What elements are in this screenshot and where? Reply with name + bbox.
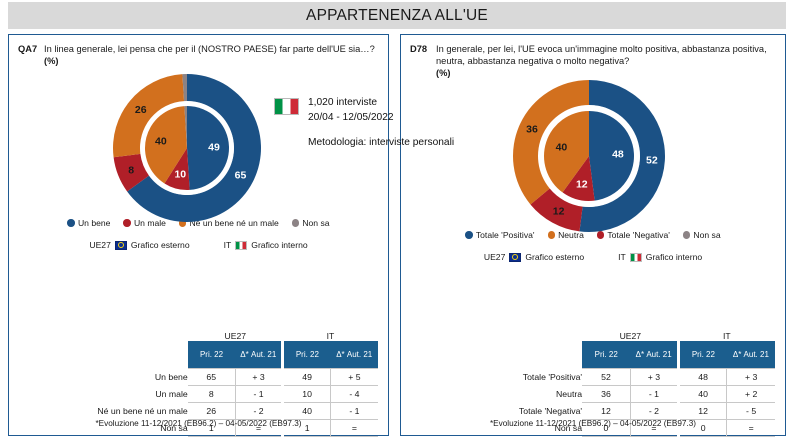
legend-item: Un bene: [67, 218, 110, 228]
table-cell-it-delta: - 5: [727, 402, 775, 419]
italy-flag-icon: [235, 241, 247, 250]
table-row-label: Totale 'Negativa': [411, 402, 582, 419]
pie-slice-label: 40: [155, 136, 167, 148]
legend-label: Un bene: [78, 218, 111, 228]
table-group-it: IT: [283, 328, 378, 341]
table-cell-it-val: 10: [283, 385, 331, 402]
table-column-header: Pri. 22: [188, 341, 236, 368]
page-title: APPARTENENZA ALL'UE: [306, 7, 488, 25]
table-column-header-row: Pri. 22Δ* Aut. 21Pri. 22Δ* Aut. 21: [19, 341, 378, 368]
table-cell-it-delta: - 1: [330, 402, 378, 419]
table-cell-it-val: 48: [679, 368, 727, 385]
table-cell-ue-val: 52: [582, 368, 630, 385]
source-it-chart-label: Grafico interno: [646, 252, 702, 262]
pie-slice-label: 52: [646, 155, 658, 167]
table-cell-ue-val: 8: [188, 385, 236, 402]
footnote-qa7: *Evoluzione 11-12/2021 (EB96.2) – 04-05/…: [9, 419, 388, 428]
italy-flag-icon: [630, 253, 642, 262]
legend-color-swatch: [683, 231, 691, 239]
source-it-label: IT: [618, 252, 626, 262]
table-row: Un male8- 110- 4: [19, 385, 378, 402]
question-code-qa7: QA7: [18, 43, 44, 66]
question-text-d78: In generale, per lei, l'UE evoca un'imma…: [436, 43, 776, 67]
table-column-header-row: Pri. 22Δ* Aut. 21Pri. 22Δ* Aut. 21: [411, 341, 775, 368]
pie-slice-label: 65: [235, 170, 247, 182]
table-cell-it-val: 49: [283, 368, 331, 385]
table-cell-it-val: 12: [679, 402, 727, 419]
pie-slice-label: 12: [576, 179, 588, 191]
table-cell-ue-val: 12: [582, 402, 630, 419]
table-cell-it-delta: + 2: [727, 385, 775, 402]
legend-color-swatch: [67, 219, 75, 227]
methodology-text: Metodologia: interviste personali: [308, 137, 454, 148]
table-cell-it-delta: - 4: [330, 385, 378, 402]
slide-root: APPARTENENZA ALL'UE QA7 In linea general…: [0, 0, 794, 440]
legend-item: Non sa: [292, 218, 330, 228]
nested-pie-chart-d78: 521236481240: [513, 80, 665, 232]
pie-slice-label: 48: [612, 149, 624, 161]
source-it-label: IT: [224, 240, 232, 250]
survey-info-block: 1,020 interviste 20/04 - 12/05/2022 Meto…: [274, 96, 454, 148]
table-row: Né un bene né un male26- 240- 1: [19, 402, 378, 419]
table-cell-ue-val: 26: [188, 402, 236, 419]
source-key-it-qa7: IT Grafico interno: [224, 240, 308, 250]
source-key-qa7: UE27 Grafico esterno IT Grafico interno: [9, 240, 388, 250]
panel-qa7: QA7 In linea generale, lei pensa che per…: [8, 34, 389, 436]
legend-color-swatch: [465, 231, 473, 239]
table-group-ue27: UE27: [582, 328, 678, 341]
source-it-chart-label: Grafico interno: [251, 240, 307, 250]
table-row: Totale 'Positiva'52+ 348+ 3: [411, 368, 775, 385]
table-row: Totale 'Negativa'12- 212- 5: [411, 402, 775, 419]
table-cell-ue-delta: - 2: [235, 402, 283, 419]
table-row-label: Un bene: [19, 368, 188, 385]
pie-chart-svg: 521236481240: [513, 80, 665, 232]
table-cell-ue-val: 65: [188, 368, 236, 385]
nested-pie-chart-qa7: 65826491040: [113, 74, 261, 222]
table-row: Un bene65+ 349+ 5: [19, 368, 378, 385]
pie-slice-label: 40: [556, 142, 568, 154]
question-header-d78: D78 In generale, per lei, l'UE evoca un'…: [401, 35, 785, 78]
table-cell-ue-val: 36: [582, 385, 630, 402]
question-unit-qa7: (%): [44, 56, 375, 66]
table-column-header: Pri. 22: [283, 341, 331, 368]
source-key-it-d78: IT Grafico interno: [618, 252, 702, 262]
table-row-label: Né un bene né un male: [19, 402, 188, 419]
table-column-header: Δ* Aut. 21: [235, 341, 283, 368]
table-column-header: Pri. 22: [582, 341, 630, 368]
table-cell-ue-delta: - 2: [630, 402, 678, 419]
question-text-qa7: In linea generale, lei pensa che per il …: [44, 43, 375, 55]
table-group-header-row: UE27IT: [19, 328, 378, 341]
table-column-header: Δ* Aut. 21: [630, 341, 678, 368]
table-cell-it-val: 40: [679, 385, 727, 402]
legend-color-swatch: [597, 231, 605, 239]
source-ue-chart-label: Grafico esterno: [525, 252, 584, 262]
question-unit-d78: (%): [436, 68, 776, 78]
table-column-header: Δ* Aut. 21: [727, 341, 775, 368]
legend-color-swatch: [548, 231, 556, 239]
eu-flag-icon: [115, 241, 127, 250]
table-cell-ue-delta: - 1: [235, 385, 283, 402]
pie-slice-label: 36: [526, 124, 538, 136]
source-ue-label: UE27: [89, 240, 111, 250]
legend-color-swatch: [292, 219, 300, 227]
question-code-d78: D78: [410, 43, 436, 78]
footnote-d78: *Evoluzione 11-12/2021 (EB96.2) – 04-05/…: [401, 419, 785, 428]
pie-chart-svg: 65826491040: [113, 74, 261, 222]
table-row-label: Neutra: [411, 385, 582, 402]
source-ue-chart-label: Grafico esterno: [131, 240, 190, 250]
table-cell-it-val: 40: [283, 402, 331, 419]
chart-area-d78: 521236481240: [401, 78, 785, 228]
table-column-header: Δ* Aut. 21: [330, 341, 378, 368]
question-header-qa7: QA7 In linea generale, lei pensa che per…: [9, 35, 388, 66]
table-row-label: Un male: [19, 385, 188, 402]
pie-slice-label: 49: [208, 142, 220, 154]
fieldwork-dates: 20/04 - 12/05/2022: [308, 111, 454, 126]
legend-label: Non sa: [302, 218, 329, 228]
header-bar: APPARTENENZA ALL'UE: [8, 2, 786, 29]
pie-slice-label: 10: [174, 169, 186, 181]
table-group-header-row: UE27IT: [411, 328, 775, 341]
pie-slice-label: 26: [135, 104, 147, 116]
table-cell-it-delta: + 5: [330, 368, 378, 385]
interview-count: 1,020 interviste: [308, 96, 454, 111]
legend-item: Non sa: [683, 230, 721, 240]
italy-flag-icon: [274, 98, 299, 115]
legend-label: Non sa: [693, 230, 720, 240]
table-cell-ue-delta: + 3: [630, 368, 678, 385]
table-cell-ue-delta: + 3: [235, 368, 283, 385]
pie-slice-label: 12: [553, 206, 565, 218]
source-key-ue27-d78: UE27 Grafico esterno: [484, 252, 584, 262]
table-row-label: Totale 'Positiva': [411, 368, 582, 385]
table-cell-it-delta: + 3: [727, 368, 775, 385]
source-ue-label: UE27: [484, 252, 506, 262]
eu-flag-icon: [509, 253, 521, 262]
pie-slice-label: 8: [128, 165, 134, 177]
panel-d78: D78 In generale, per lei, l'UE evoca un'…: [400, 34, 786, 436]
table-group-ue27: UE27: [188, 328, 283, 341]
table-cell-ue-delta: - 1: [630, 385, 678, 402]
source-key-ue27-qa7: UE27 Grafico esterno: [89, 240, 189, 250]
source-key-d78: UE27 Grafico esterno IT Grafico interno: [401, 252, 785, 262]
table-row: Neutra36- 140+ 2: [411, 385, 775, 402]
table-column-header: Pri. 22: [679, 341, 727, 368]
table-group-it: IT: [679, 328, 775, 341]
